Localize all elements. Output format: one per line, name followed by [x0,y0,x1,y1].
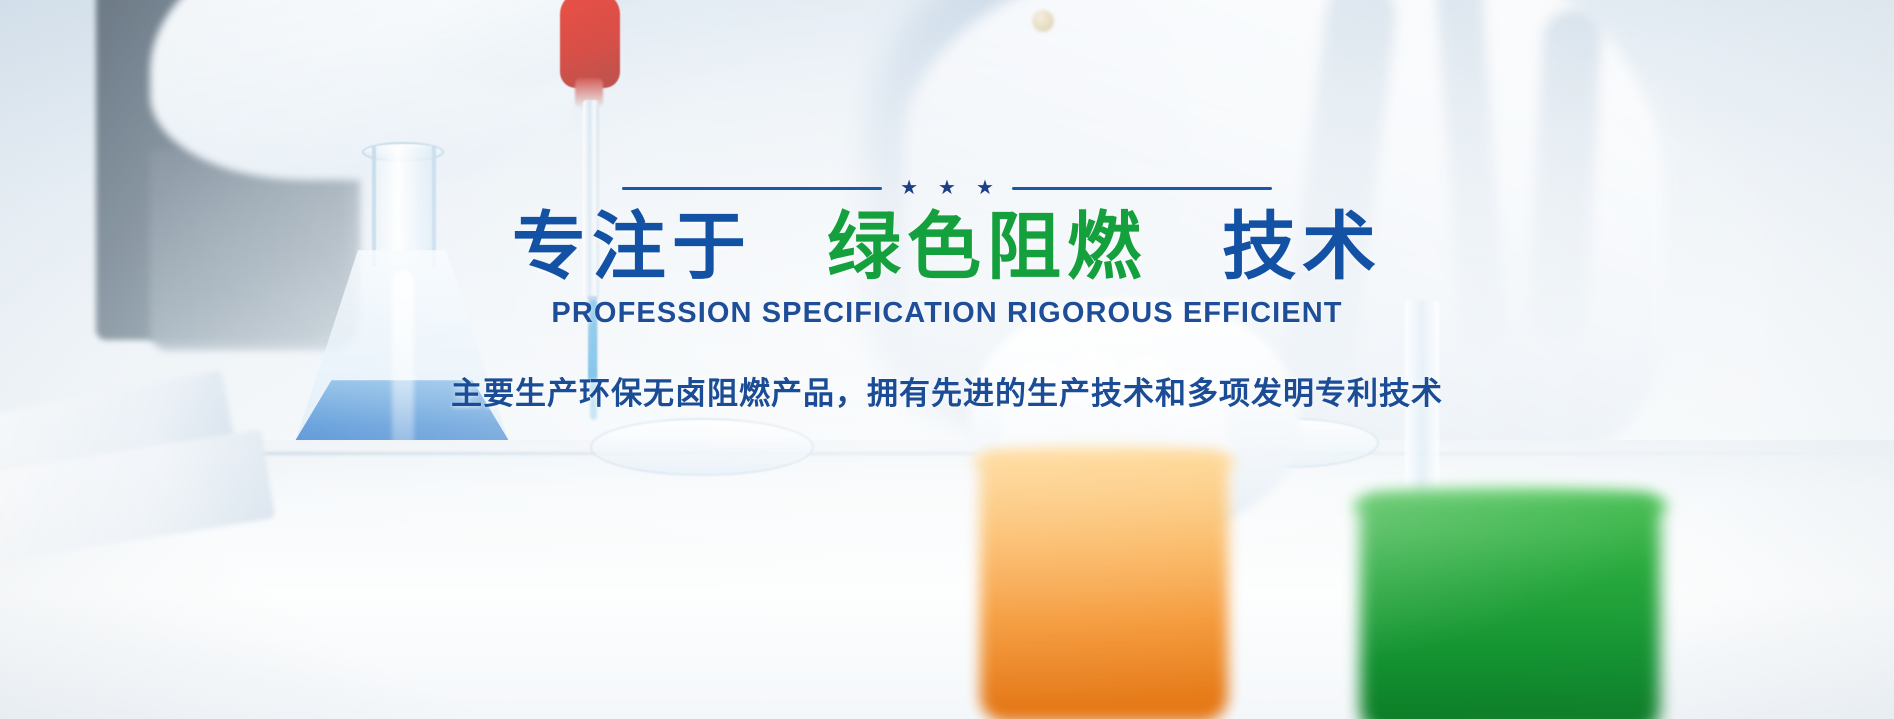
ornamental-divider: ★ ★ ★ [622,178,1272,198]
headline: 专注于 绿色阻燃 技术 [512,206,1382,289]
banner-content: ★ ★ ★ 专注于 绿色阻燃 技术 PROFESSION SPECIFICATI… [0,0,1894,719]
star-group: ★ ★ ★ [900,178,994,198]
headline-part-3: 技术 [1222,205,1382,288]
hero-banner: ★ ★ ★ 专注于 绿色阻燃 技术 PROFESSION SPECIFICATI… [0,0,1894,719]
headline-part-1: 专注于 [512,205,752,288]
star-icon: ★ [976,178,994,198]
tagline: 主要生产环保无卤阻燃产品，拥有先进的生产技术和多项发明专利技术 [451,368,1443,413]
star-icon: ★ [900,178,918,198]
star-icon: ★ [938,178,956,198]
subtitle: PROFESSION SPECIFICATION RIGOROUS EFFICI… [551,297,1342,330]
divider-rule-left [622,187,882,190]
headline-part-2: 绿色阻燃 [827,205,1147,288]
divider-rule-right [1012,187,1272,190]
